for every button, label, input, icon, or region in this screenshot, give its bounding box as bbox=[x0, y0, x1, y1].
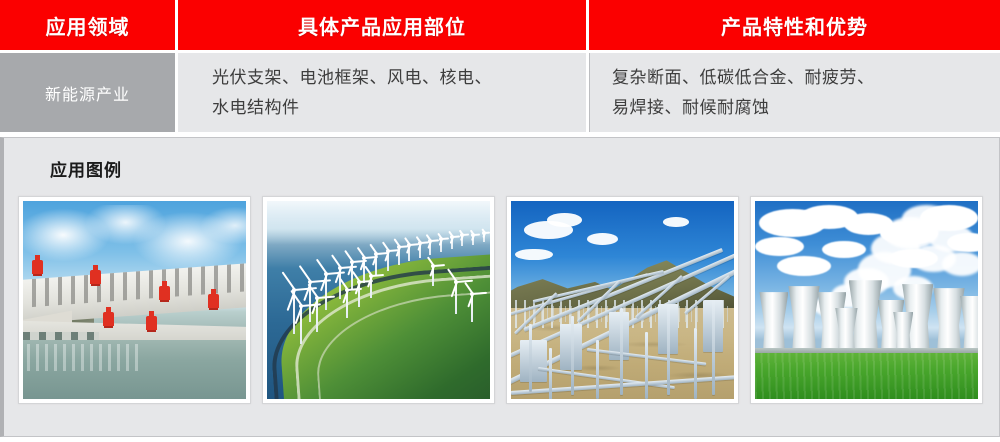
application-field-panel: 应用领域 具体产品应用部位 产品特性和优势 新能源产业 光伏支架、电池框架、风电… bbox=[0, 0, 1000, 442]
gallery-panel: 应用图例 bbox=[0, 137, 1000, 437]
water-reflection bbox=[27, 344, 143, 372]
steel-rack-post bbox=[645, 332, 648, 399]
gantry-crane-icon bbox=[103, 312, 114, 326]
cloud-shape bbox=[515, 249, 553, 261]
cooling-tower bbox=[759, 292, 788, 351]
wind-turbine-icon bbox=[457, 233, 469, 246]
gantry-crane-icon bbox=[159, 286, 170, 300]
cell-application-parts: 光伏支架、电池框架、风电、核电、水电结构件 bbox=[178, 53, 586, 132]
text-line: 易焊接、耐候耐腐蚀 bbox=[612, 93, 875, 123]
header-product-application-parts: 具体产品应用部位 bbox=[178, 0, 586, 50]
table-header-row: 应用领域 具体产品应用部位 产品特性和优势 bbox=[0, 0, 1000, 50]
table-row: 新能源产业 光伏支架、电池框架、风电、核电、水电结构件 复杂断面、低碳低合金、耐… bbox=[0, 53, 1000, 132]
text-line: 光伏支架、电池框架、风电、核电、 bbox=[212, 63, 492, 93]
cloud-shape bbox=[547, 213, 583, 227]
gallery-item-nuclear-cooling-tower[interactable] bbox=[750, 196, 983, 404]
steel-rack-post bbox=[620, 308, 623, 395]
solar-mounting-rack-photo bbox=[511, 201, 734, 399]
text-line: 复杂断面、低碳低合金、耐疲劳、 bbox=[612, 63, 875, 93]
steel-rack-post bbox=[571, 316, 574, 395]
header-product-features-advantages: 产品特性和优势 bbox=[589, 0, 1000, 50]
cooling-tower bbox=[788, 286, 819, 351]
steam-plume bbox=[942, 252, 978, 276]
sky-cloud bbox=[755, 237, 804, 257]
wind-turbine-icon bbox=[361, 274, 383, 298]
gallery-image-list bbox=[18, 196, 983, 404]
sky-cloud bbox=[822, 241, 867, 259]
steel-rack-post bbox=[529, 324, 532, 391]
grass-texture bbox=[755, 353, 978, 399]
gallery-title: 应用图例 bbox=[50, 156, 122, 181]
steel-rack-post bbox=[667, 304, 670, 395]
wind-turbine-icon bbox=[459, 292, 486, 322]
steel-rack-post bbox=[694, 328, 697, 399]
cloud-shape bbox=[587, 233, 618, 245]
gallery-item-offshore-wind-farm[interactable] bbox=[262, 196, 495, 404]
wind-turbine-icon bbox=[468, 233, 479, 245]
sky-cloud bbox=[777, 256, 831, 276]
gantry-crane-icon bbox=[90, 270, 101, 284]
features-advantages-text: 复杂断面、低碳低合金、耐疲劳、易焊接、耐候耐腐蚀 bbox=[590, 63, 875, 123]
steel-rack-post bbox=[596, 340, 599, 399]
gantry-crane-icon bbox=[32, 260, 43, 274]
offshore-wind-farm-photo bbox=[267, 201, 490, 399]
steel-rack-post bbox=[549, 348, 552, 399]
application-parts-text: 光伏支架、电池框架、风电、核电、水电结构件 bbox=[178, 63, 492, 123]
cell-application-field: 新能源产业 bbox=[0, 53, 175, 132]
cloud-shape bbox=[663, 217, 690, 227]
gallery-item-hydropower-dam[interactable] bbox=[18, 196, 251, 404]
wind-turbine-icon bbox=[479, 231, 489, 242]
cooling-tower bbox=[933, 288, 964, 351]
cell-features-advantages: 复杂断面、低碳低合金、耐疲劳、易焊接、耐候耐腐蚀 bbox=[589, 53, 1000, 132]
header-application-field: 应用领域 bbox=[0, 0, 175, 50]
gallery-item-solar-mounting-rack[interactable] bbox=[506, 196, 739, 404]
wind-turbine-icon bbox=[300, 296, 332, 332]
cooling-tower bbox=[960, 296, 978, 351]
gantry-crane-icon bbox=[208, 294, 219, 308]
application-table: 应用领域 具体产品应用部位 产品特性和优势 新能源产业 光伏支架、电池框架、风电… bbox=[0, 0, 1000, 132]
gantry-crane-icon bbox=[146, 316, 157, 330]
text-line: 水电结构件 bbox=[212, 93, 492, 123]
nuclear-cooling-tower-photo bbox=[755, 201, 978, 399]
hydropower-dam-photo bbox=[23, 201, 246, 399]
steel-rack-post bbox=[712, 300, 715, 395]
steam-plume bbox=[929, 225, 974, 253]
wind-turbine-icon bbox=[423, 264, 443, 286]
steel-rack-member bbox=[520, 340, 547, 382]
